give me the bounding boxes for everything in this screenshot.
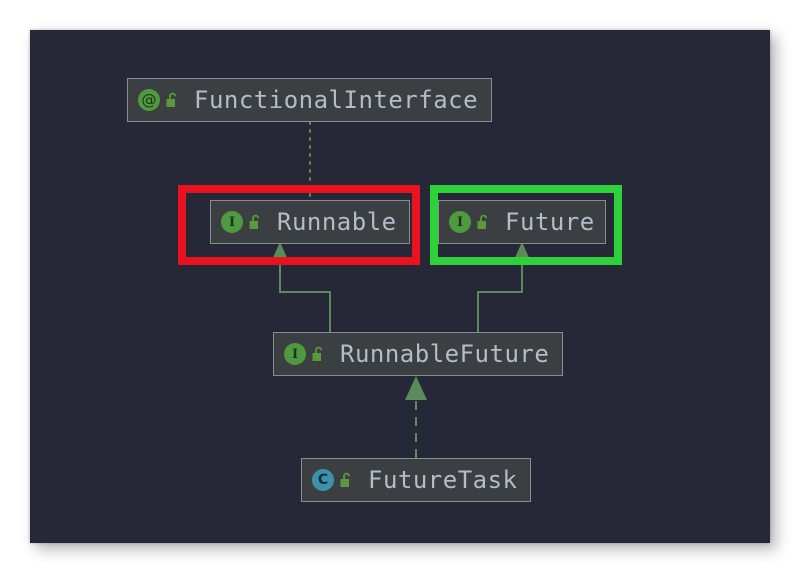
unlocked-padlock-icon — [339, 472, 354, 489]
screenshot-root: @ FunctionalInterface I Runnable I — [0, 0, 800, 573]
node-runnable-future[interactable]: I RunnableFuture — [273, 332, 563, 376]
class-badge-icon: C — [312, 469, 334, 491]
node-label: FunctionalInterface — [194, 86, 478, 114]
node-label: RunnableFuture — [340, 340, 549, 368]
edge-futuretask-runnablefuture-arrowhead — [405, 376, 427, 400]
node-functional-interface[interactable]: @ FunctionalInterface — [127, 78, 492, 122]
unlocked-padlock-icon — [311, 346, 326, 363]
highlight-box-runnable — [178, 185, 420, 265]
edge-runnablefuture-future — [478, 258, 522, 332]
edge-runnablefuture-runnable — [280, 258, 330, 332]
node-label: FutureTask — [368, 466, 518, 494]
annotation-badge-icon: @ — [138, 89, 160, 111]
highlight-box-future — [430, 185, 622, 265]
node-future-task[interactable]: C FutureTask — [301, 458, 531, 502]
interface-badge-icon: I — [284, 343, 306, 365]
unlocked-padlock-icon — [165, 92, 180, 109]
diagram-canvas[interactable]: @ FunctionalInterface I Runnable I — [30, 30, 770, 543]
